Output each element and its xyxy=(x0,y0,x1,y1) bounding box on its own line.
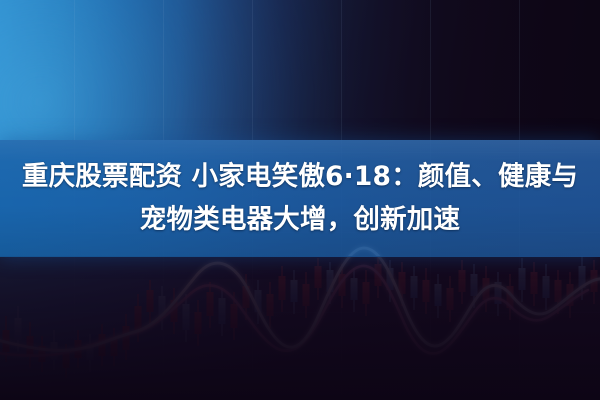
headline-line-2: 宠物类电器大增，创新加速 xyxy=(140,200,460,240)
headline-line-1: 重庆股票配资 小家电笑傲6·18：颜值、健康与 xyxy=(22,157,578,197)
banner-image: 重庆股票配资 小家电笑傲6·18：颜值、健康与 宠物类电器大增，创新加速 xyxy=(0,0,600,400)
headline: 重庆股票配资 小家电笑傲6·18：颜值、健康与 宠物类电器大增，创新加速 xyxy=(0,140,600,257)
background-lower-shade xyxy=(0,256,600,400)
